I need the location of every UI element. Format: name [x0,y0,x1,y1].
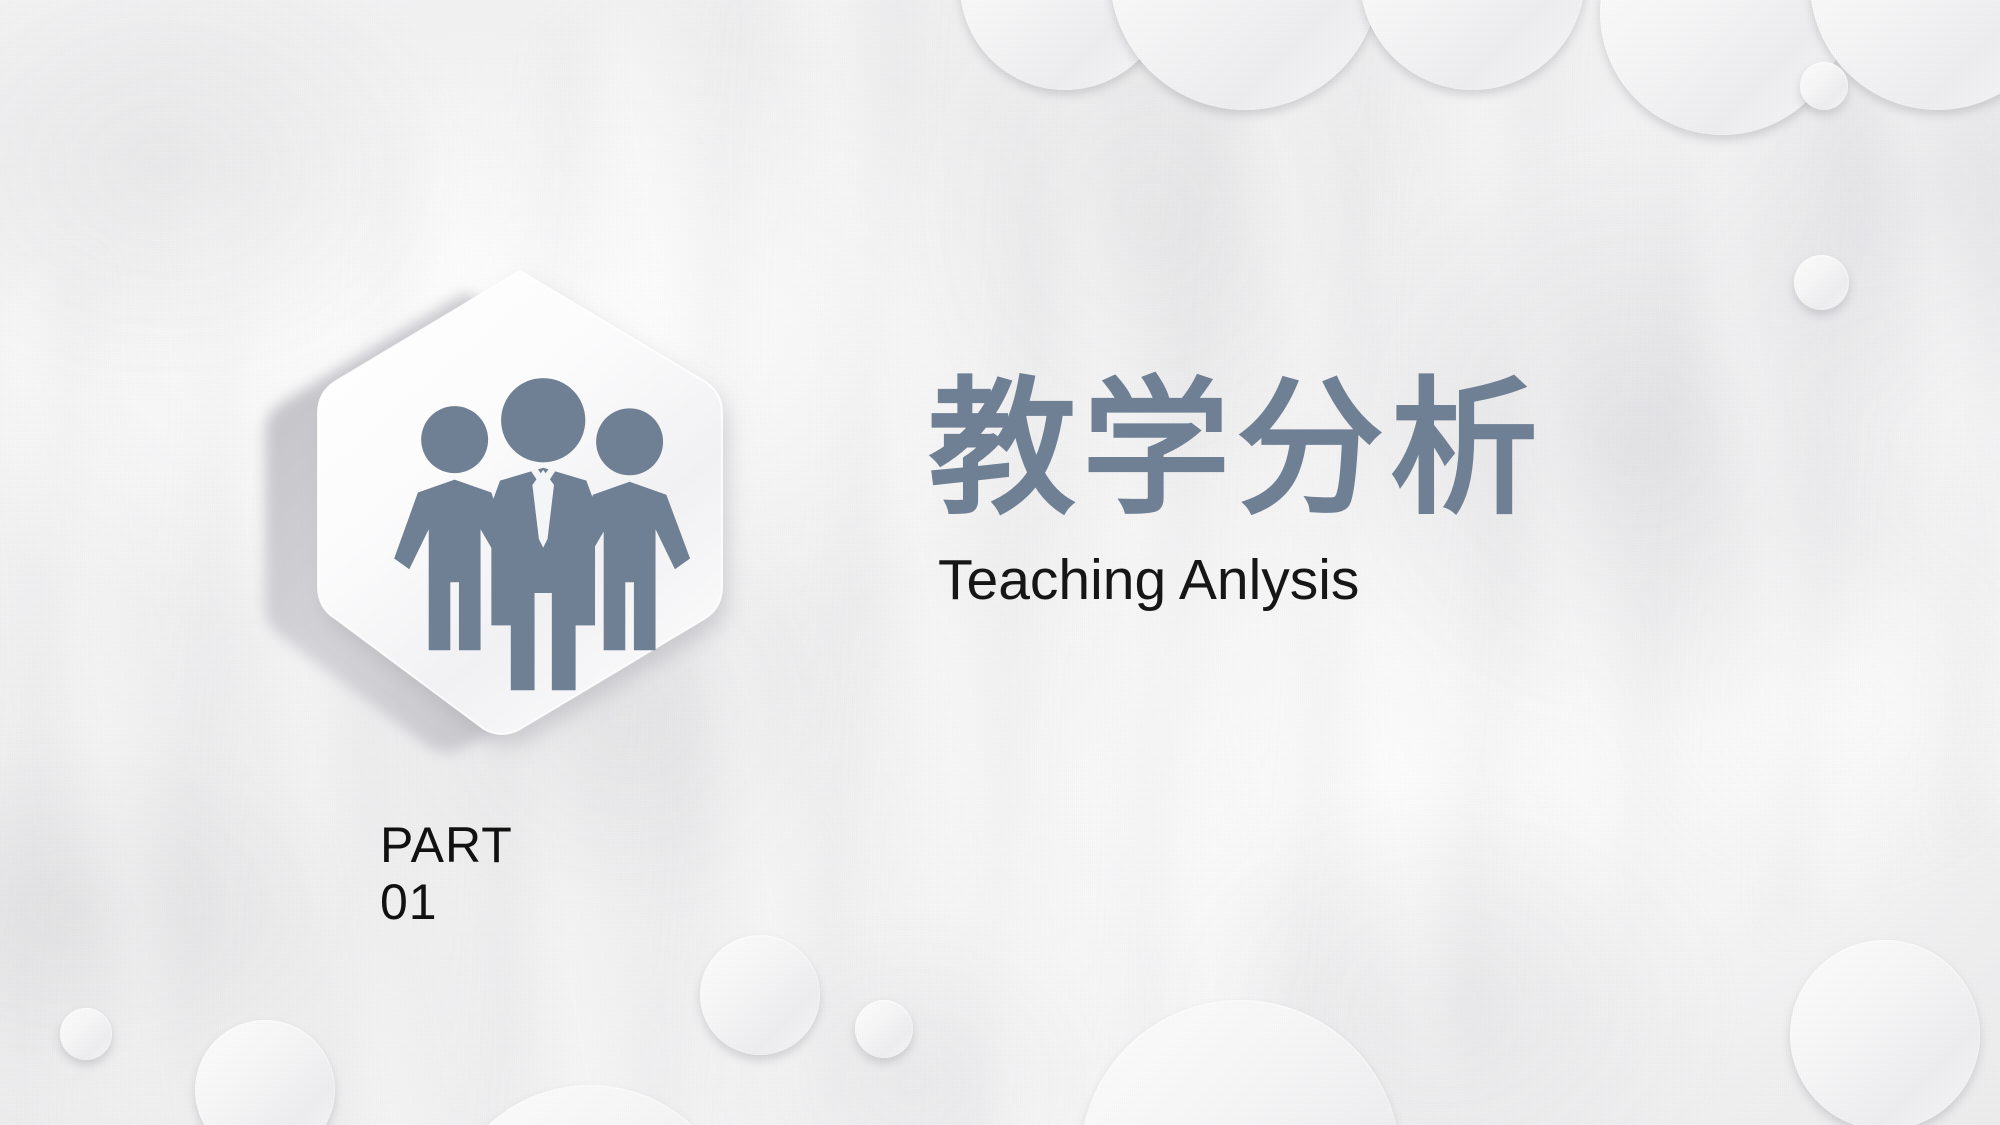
bubble-bottom-6 [60,1008,112,1060]
bubble-bottom-1 [700,935,820,1055]
title-block: 教学分析 Teaching Anlysis [928,370,1828,609]
bubble-top-small-1 [1800,62,1848,110]
part-label-word: PART [380,817,513,874]
bubble-bottom-2 [855,1000,913,1058]
bubble-bottom-7 [1790,940,1980,1125]
part-label: PART 01 [380,817,513,931]
hexagon-badge [255,265,755,755]
bubble-top-small-2 [1794,255,1849,310]
slide-canvas: 教学分析 Teaching Anlysis PART 01 [0,0,2000,1125]
page-subtitle: Teaching Anlysis [938,552,1828,609]
part-label-number: 01 [380,874,513,931]
hexagon-face [310,265,730,735]
page-title: 教学分析 [928,370,1828,530]
